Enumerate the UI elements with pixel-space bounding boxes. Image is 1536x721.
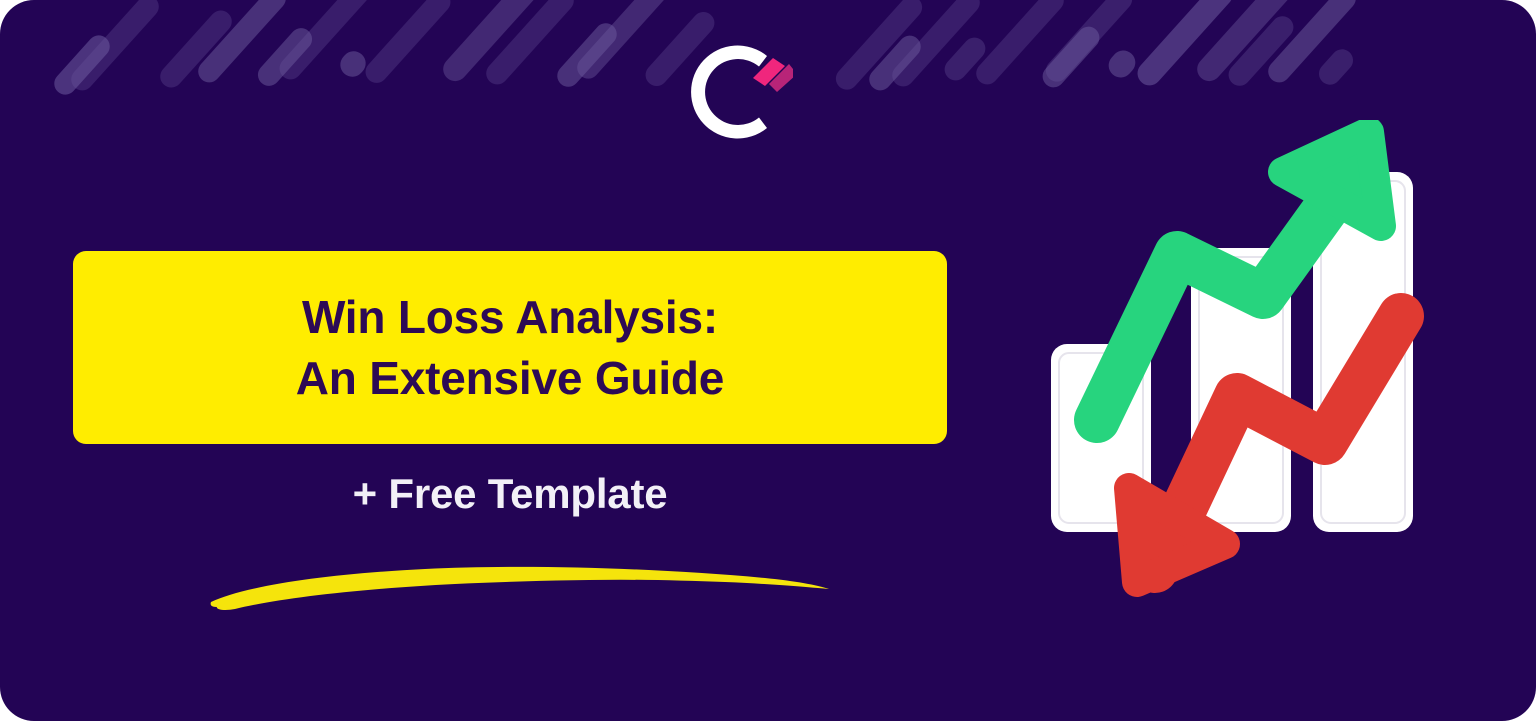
diagonal-slash-decor bbox=[553, 19, 622, 92]
diagonal-slash-decor bbox=[1038, 22, 1104, 92]
diagonal-slash-decor bbox=[1264, 0, 1361, 87]
diagonal-slash-decor bbox=[253, 24, 316, 91]
page-title-line-1: Win Loss Analysis: bbox=[302, 293, 718, 341]
diagonal-slash-decor bbox=[865, 31, 926, 95]
diagonal-slash-decor bbox=[1192, 0, 1304, 86]
brush-stroke-underline-icon bbox=[205, 552, 835, 614]
diagonal-slash-decor bbox=[67, 0, 164, 95]
title-card: Win Loss Analysis: An Extensive Guide bbox=[73, 251, 947, 444]
page-title-line-2: An Extensive Guide bbox=[296, 354, 724, 402]
diagonal-slash-decor bbox=[831, 0, 926, 94]
win-loss-chart-illustration bbox=[1025, 120, 1455, 625]
diagonal-slash-decor bbox=[275, 0, 377, 84]
diagonal-slash-decor bbox=[50, 31, 115, 99]
banner-card: Win Loss Analysis: An Extensive Guide + … bbox=[0, 0, 1536, 721]
diagonal-slash-decor bbox=[156, 6, 237, 92]
diagonal-slash-decor bbox=[1041, 0, 1136, 86]
diagonal-slash-decor bbox=[573, 0, 674, 83]
diagonal-slash-decor bbox=[888, 0, 985, 91]
diagonal-slash-decor bbox=[438, 0, 550, 86]
crayon-c-logo bbox=[681, 44, 793, 140]
diagonal-slash-decor bbox=[194, 0, 291, 87]
diagonal-slash-decor bbox=[361, 0, 455, 87]
diagonal-slash-decor bbox=[1104, 46, 1141, 83]
diagonal-slash-decor bbox=[482, 0, 579, 89]
diagonal-slash-decor bbox=[1314, 45, 1357, 89]
diagonal-slash-decor bbox=[972, 0, 1069, 89]
diagonal-slash-decor bbox=[1224, 12, 1298, 91]
diagonal-slash-decor bbox=[940, 33, 990, 85]
diagonal-slash-decor bbox=[335, 46, 370, 81]
subtitle-free-template: + Free Template bbox=[73, 470, 947, 518]
diagonal-slash-decor bbox=[1133, 0, 1238, 90]
